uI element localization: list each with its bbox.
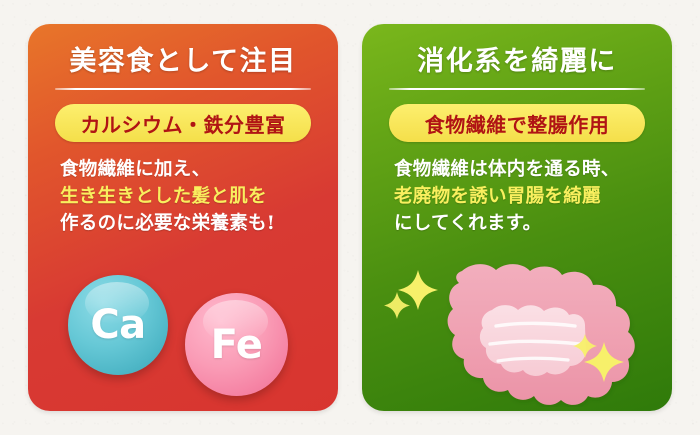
panel-digestive-clean-heading: 消化系を綺麗に xyxy=(388,24,646,77)
panel-beauty-food-badge: カルシウム・鉄分豊富 xyxy=(55,104,311,142)
panel-beauty-food-heading: 美容食として注目 xyxy=(54,24,312,77)
heading-divider xyxy=(389,88,645,90)
panel-digestive-clean-body: 食物繊維は体内を通る時、 老廃物を誘い胃腸を綺麗 にしてくれます。 xyxy=(394,156,646,237)
body-line-3: にしてくれます。 xyxy=(394,210,646,237)
panel-beauty-food-body: 食物繊維に加え、 生き生きとした髪と肌を 作るのに必要な栄養素も! xyxy=(60,156,312,237)
body-line-3: 作るのに必要な栄養素も! xyxy=(60,210,312,237)
panel-beauty-food: 美容食として注目 カルシウム・鉄分豊富 食物繊維に加え、 生き生きとした髪と肌を… xyxy=(28,24,338,411)
panel-beauty-food-content: 美容食として注目 カルシウム・鉄分豊富 食物繊維に加え、 生き生きとした髪と肌を… xyxy=(28,24,338,411)
sparkle-icon-small xyxy=(384,292,410,319)
body-line-1: 食物繊維は体内を通る時、 xyxy=(394,156,646,183)
intestine-illustration xyxy=(376,262,658,407)
infographic-board: 美容食として注目 カルシウム・鉄分豊富 食物繊維に加え、 生き生きとした髪と肌を… xyxy=(0,0,700,435)
body-line-1: 食物繊維に加え、 xyxy=(60,156,312,183)
badge-label: 食物繊維で整腸作用 xyxy=(425,109,610,138)
panel-digestive-clean: 消化系を綺麗に 食物繊維で整腸作用 食物繊維は体内を通る時、 老廃物を誘い胃腸を… xyxy=(362,24,672,411)
body-line-2: 老廃物を誘い胃腸を綺麗 xyxy=(394,183,646,210)
badge-label: カルシウム・鉄分豊富 xyxy=(81,109,286,138)
sparkle-icon-group-left xyxy=(384,270,438,319)
panel-digestive-clean-badge: 食物繊維で整腸作用 xyxy=(389,104,645,142)
heading-divider xyxy=(55,88,311,90)
body-line-2: 生き生きとした髪と肌を xyxy=(60,183,312,210)
